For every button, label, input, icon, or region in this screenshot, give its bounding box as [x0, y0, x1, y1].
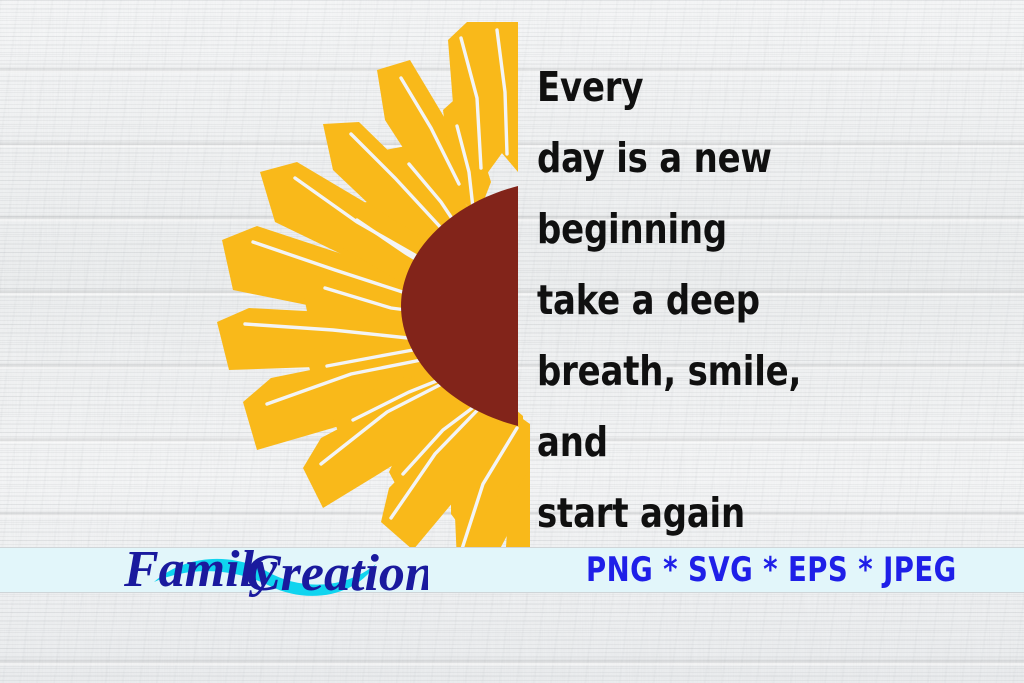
quote-line-4: take a deep	[537, 265, 969, 336]
quote-line-7: start again	[537, 478, 969, 549]
file-formats: PNG * SVG * EPS * JPEG	[586, 548, 986, 592]
family-creations-logo: Family Creations	[118, 524, 428, 608]
quote-line-6: and	[537, 407, 969, 478]
quote-line-2: day is a new	[537, 123, 969, 194]
quote-text-block: Every day is a new beginning take a deep…	[537, 52, 1007, 549]
logo-word-creations: Creations	[246, 545, 428, 602]
quote-line-1: Every	[537, 52, 969, 123]
quote-line-3: beginning	[537, 194, 969, 265]
product-mockup-canvas: Every day is a new beginning take a deep…	[0, 0, 1024, 683]
quote-line-5: breath, smile,	[537, 336, 969, 407]
file-formats-text: PNG * SVG * EPS * JPEG	[586, 550, 957, 590]
sunflower-graphic	[205, 22, 535, 562]
